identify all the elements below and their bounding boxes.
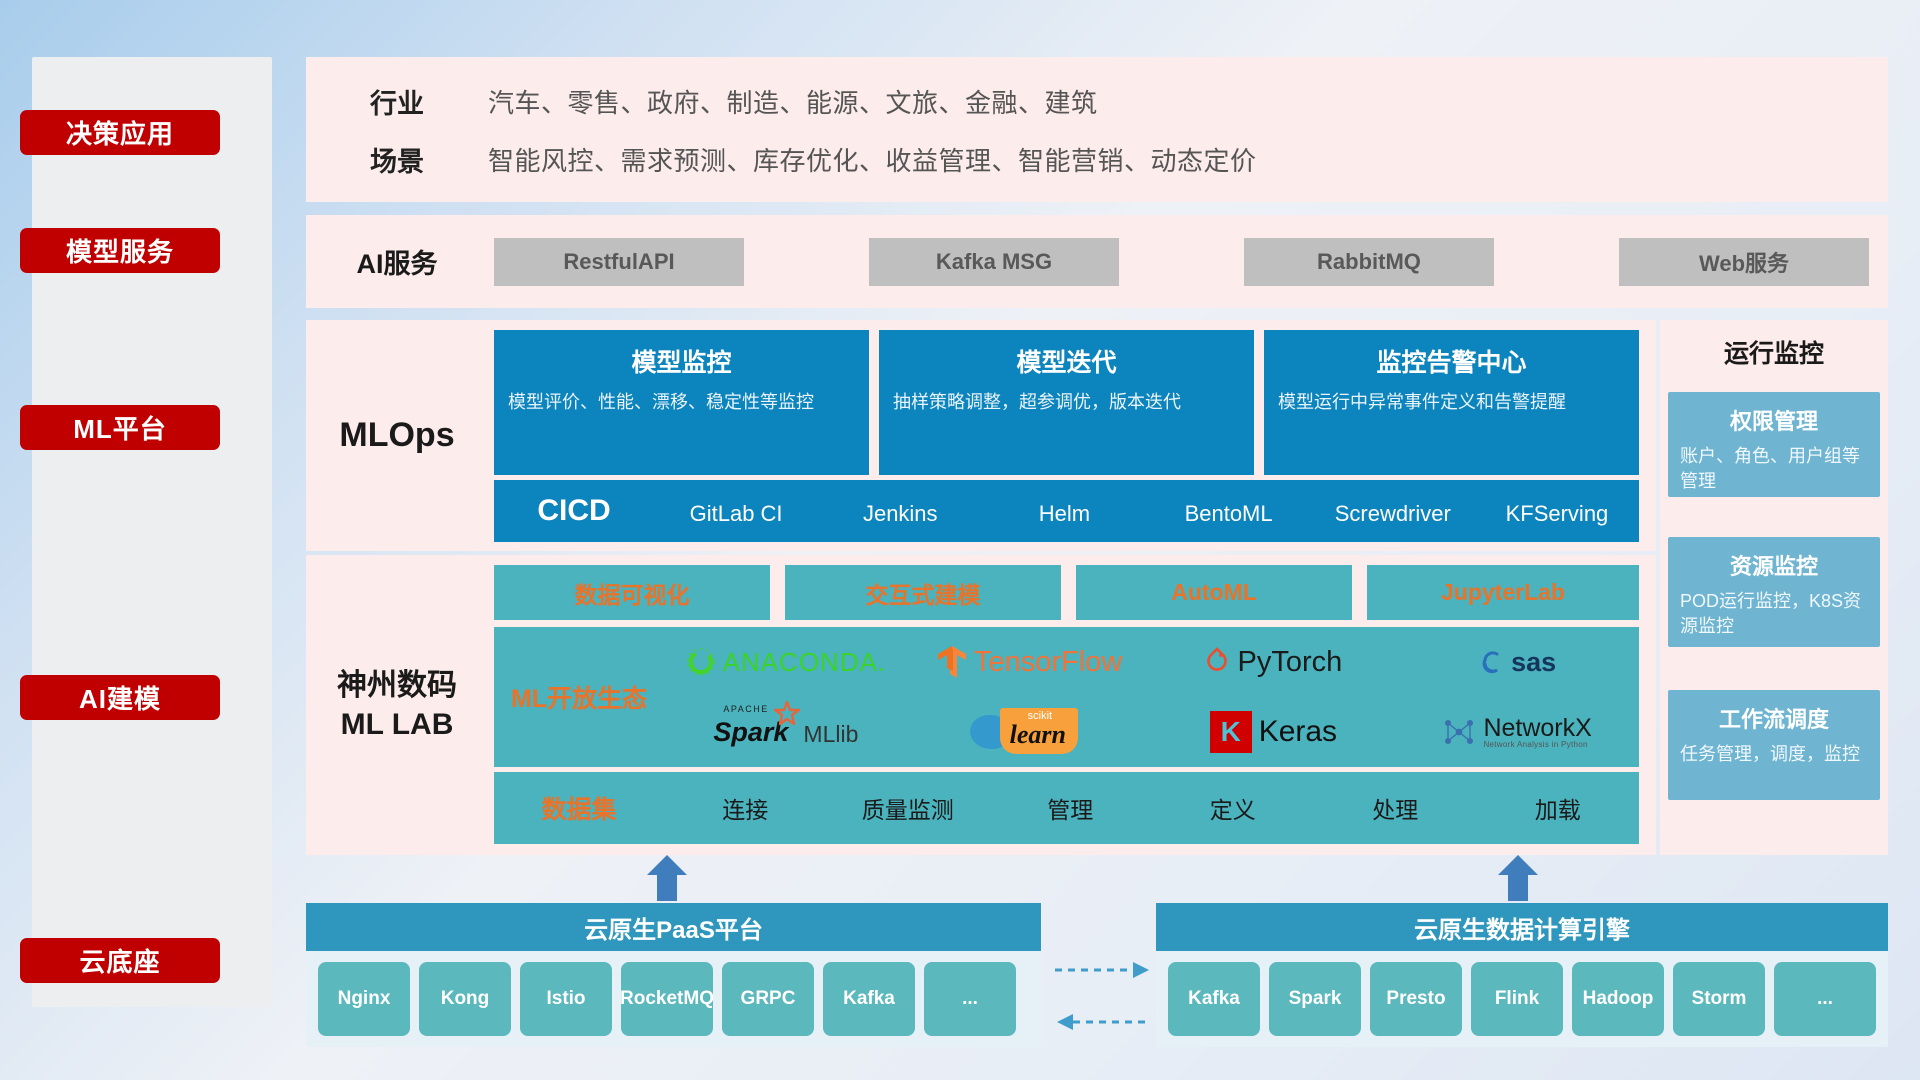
card-desc: 模型运行中异常事件定义和告警提醒 xyxy=(1264,379,1639,415)
dashed-arrow-left xyxy=(1055,1012,1151,1032)
up-arrow-paas xyxy=(645,855,689,901)
card-desc: 账户、角色、用户组等管理 xyxy=(1668,436,1880,494)
tile-automl[interactable]: AutoML xyxy=(1076,565,1352,620)
ml-lab-label-line2: ML LAB xyxy=(341,705,454,744)
runtime-monitor-title: 运行监控 xyxy=(1660,320,1888,370)
anaconda-logo: ANACONDA. xyxy=(664,647,908,678)
tensorflow-logo: TensorFlow xyxy=(908,645,1152,679)
monitor-card-resource[interactable]: 资源监控 POD运行监控，K8S资源监控 xyxy=(1668,537,1880,647)
cloud-chip-kafka[interactable]: Kafka xyxy=(823,962,915,1036)
mlops-card-model-iteration[interactable]: 模型迭代 抽样策略调整，超参调优，版本迭代 xyxy=(879,330,1254,475)
dataset-item-load[interactable]: 加载 xyxy=(1477,791,1640,825)
up-arrow-compute-engine xyxy=(1496,855,1540,901)
rail-chip-ml-platform[interactable]: ML平台 xyxy=(20,405,220,450)
cicd-bar: CICD GitLab CI Jenkins Helm BentoML Scre… xyxy=(494,480,1639,542)
dataset-item-connect[interactable]: 连接 xyxy=(664,791,827,825)
ecosystem-label: ML开放生态 xyxy=(494,679,664,715)
spark-sub-text: APACHE xyxy=(723,704,768,714)
mllib-text: MLlib xyxy=(803,721,858,748)
anaconda-logo-text: ANACONDA. xyxy=(723,647,887,678)
keras-logo: K Keras xyxy=(1152,711,1396,753)
dashed-arrow-right xyxy=(1055,960,1151,980)
card-desc: 模型评价、性能、漂移、稳定性等监控 xyxy=(494,379,869,415)
card-title: 监控告警中心 xyxy=(1264,343,1639,379)
dataset-item-manage[interactable]: 管理 xyxy=(989,791,1152,825)
cicd-item-bentoml[interactable]: BentoML xyxy=(1147,480,1311,529)
cloud-chip-storm[interactable]: Storm xyxy=(1673,962,1765,1036)
scikit-learn-logo: scikit learn xyxy=(908,710,1152,754)
cloud-chip-grpc[interactable]: GRPC xyxy=(722,962,814,1036)
cicd-item-screwdriver[interactable]: Screwdriver xyxy=(1311,480,1475,529)
tile-jupyterlab[interactable]: JupyterLab xyxy=(1367,565,1639,620)
cloud-chip-kafka-right[interactable]: Kafka xyxy=(1168,962,1260,1036)
cicd-title: CICD xyxy=(494,480,654,528)
ecosystem-logo-grid: ANACONDA. TensorFlow PyTorch xyxy=(664,627,1639,767)
card-title: 模型迭代 xyxy=(879,343,1254,379)
tensorflow-logo-text: TensorFlow xyxy=(974,646,1122,679)
tile-interactive-modeling[interactable]: 交互式建模 xyxy=(785,565,1061,620)
cicd-item-jenkins[interactable]: Jenkins xyxy=(818,480,982,529)
ml-lab-label: 神州数码 ML LAB xyxy=(306,555,488,855)
ai-service-label: AI服务 xyxy=(306,215,488,308)
keras-mark-text: K xyxy=(1221,716,1241,748)
networkx-logo: NetworkX Network Analysis in Python xyxy=(1395,716,1639,749)
ml-open-ecosystem: ML开放生态 ANACONDA. TensorFlow xyxy=(494,627,1639,767)
rail-chip-cloud-base[interactable]: 云底座 xyxy=(20,938,220,983)
dataset-bar: 数据集 连接 质量监测 管理 定义 处理 加载 xyxy=(494,772,1639,844)
scikit-learn-text: learn xyxy=(1010,720,1066,750)
cicd-item-helm[interactable]: Helm xyxy=(982,480,1146,529)
industry-row: 行业 汽车、零售、政府、制造、能源、文旅、金融、建筑 xyxy=(306,72,1888,130)
card-title: 权限管理 xyxy=(1668,392,1880,436)
cloud-chip-more-left[interactable]: ... xyxy=(924,962,1016,1036)
dataset-item-define[interactable]: 定义 xyxy=(1152,791,1315,825)
rail-chip-model-service[interactable]: 模型服务 xyxy=(20,228,220,273)
cloud-chip-kong[interactable]: Kong xyxy=(419,962,511,1036)
cicd-item-kfserving[interactable]: KFServing xyxy=(1475,480,1639,529)
ecosystem-logo-row-1: ANACONDA. TensorFlow PyTorch xyxy=(664,627,1639,697)
mlops-card-model-monitoring[interactable]: 模型监控 模型评价、性能、漂移、稳定性等监控 xyxy=(494,330,869,475)
dataset-item-process[interactable]: 处理 xyxy=(1314,791,1477,825)
tile-data-visualization[interactable]: 数据可视化 xyxy=(494,565,770,620)
cicd-item-gitlab-ci[interactable]: GitLab CI xyxy=(654,480,818,529)
service-box-restfulapi[interactable]: RestfulAPI xyxy=(494,238,744,286)
keras-logo-text: Keras xyxy=(1259,715,1337,749)
networkx-sub-text: Network Analysis in Python xyxy=(1483,741,1591,749)
networkx-logo-text: NetworkX xyxy=(1483,716,1591,741)
layer-rail xyxy=(32,57,272,1007)
sas-logo-text: sas xyxy=(1511,647,1556,678)
cloud-chip-istio[interactable]: Istio xyxy=(520,962,612,1036)
cloud-chip-spark[interactable]: Spark xyxy=(1269,962,1361,1036)
card-title: 工作流调度 xyxy=(1668,690,1880,734)
service-box-web-service[interactable]: Web服务 xyxy=(1619,238,1869,286)
service-box-rabbitmq[interactable]: RabbitMQ xyxy=(1244,238,1494,286)
industry-value: 汽车、零售、政府、制造、能源、文旅、金融、建筑 xyxy=(488,83,1098,120)
cloud-chip-presto[interactable]: Presto xyxy=(1370,962,1462,1036)
scenario-row: 场景 智能风控、需求预测、库存优化、收益管理、智能营销、动态定价 xyxy=(306,130,1888,188)
cloud-chip-more-right[interactable]: ... xyxy=(1774,962,1876,1036)
ecosystem-logo-row-2: APACHE Spark MLlib scikit xyxy=(664,697,1639,767)
cloud-paas-title: 云原生PaaS平台 xyxy=(306,903,1041,951)
monitor-card-workflow[interactable]: 工作流调度 任务管理，调度，监控 xyxy=(1668,690,1880,800)
mlops-label: MLOps xyxy=(306,320,488,551)
rail-chip-decision-app[interactable]: 决策应用 xyxy=(20,110,220,155)
monitor-card-permission[interactable]: 权限管理 账户、角色、用户组等管理 xyxy=(1668,392,1880,497)
scenario-value: 智能风控、需求预测、库存优化、收益管理、智能营销、动态定价 xyxy=(488,141,1257,178)
ml-lab-label-line1: 神州数码 xyxy=(337,666,457,705)
cloud-compute-engine-title: 云原生数据计算引擎 xyxy=(1156,903,1888,951)
card-title: 模型监控 xyxy=(494,343,869,379)
industry-label: 行业 xyxy=(306,82,488,121)
apache-spark-mllib-logo: APACHE Spark MLlib xyxy=(664,717,908,748)
dataset-label: 数据集 xyxy=(494,790,664,826)
mlops-card-alert-center[interactable]: 监控告警中心 模型运行中异常事件定义和告警提醒 xyxy=(1264,330,1639,475)
cloud-chip-rocketmq[interactable]: RocketMQ xyxy=(621,962,713,1036)
card-desc: 抽样策略调整，超参调优，版本迭代 xyxy=(879,379,1254,415)
architecture-diagram: 决策应用 模型服务 ML平台 AI建模 云底座 行业 汽车、零售、政府、制造、能… xyxy=(0,0,1920,1080)
service-box-kafka-msg[interactable]: Kafka MSG xyxy=(869,238,1119,286)
card-desc: POD运行监控，K8S资源监控 xyxy=(1668,581,1880,639)
scenario-label: 场景 xyxy=(306,140,488,179)
pytorch-logo: PyTorch xyxy=(1152,646,1396,679)
card-title: 资源监控 xyxy=(1668,537,1880,581)
rail-chip-ai-modeling[interactable]: AI建模 xyxy=(20,675,220,720)
card-desc: 任务管理，调度，监控 xyxy=(1668,734,1880,767)
cloud-chip-nginx[interactable]: Nginx xyxy=(318,962,410,1036)
sas-logo: sas xyxy=(1395,647,1639,678)
pytorch-logo-text: PyTorch xyxy=(1237,646,1342,679)
dataset-item-quality[interactable]: 质量监测 xyxy=(827,791,990,825)
cloud-chip-flink[interactable]: Flink xyxy=(1471,962,1563,1036)
cloud-chip-hadoop[interactable]: Hadoop xyxy=(1572,962,1664,1036)
